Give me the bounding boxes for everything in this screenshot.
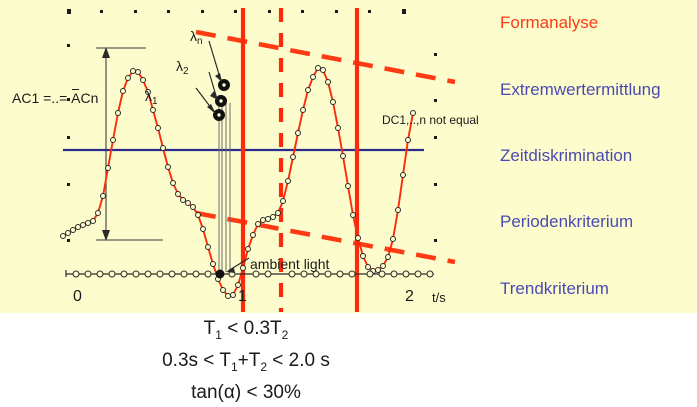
legend-item-trendkriterium[interactable]: Trendkriterium	[500, 279, 609, 299]
lambda-sample-points[interactable]	[214, 80, 229, 120]
x-axis-unit-label: t/s	[432, 290, 446, 305]
legend-item-extremwertermittlung[interactable]: Extremwertermittlung	[500, 80, 661, 100]
ambient-light-leader	[228, 258, 249, 271]
ambient-light-point[interactable]	[216, 270, 225, 279]
left-tick-marks	[67, 44, 70, 242]
plot-panel: AC1 =..= ACn DC1,..,n not equal ambient …	[0, 0, 492, 313]
lambda-n-label: λn	[190, 28, 203, 47]
legend-item-zeitdiskrimination[interactable]: Zeitdiskrimination	[500, 146, 632, 166]
x-tick-1: 1	[238, 288, 247, 306]
legend-item-periodenkriterium[interactable]: Periodenkriterium	[500, 212, 633, 232]
ppg-waveform	[63, 68, 413, 296]
formula-line-2: 0.3s < T1+T2 < 2.0 s	[0, 348, 492, 380]
time-discrimination-lines	[219, 95, 230, 272]
formula-line-1: T1 < 0.3T2	[0, 316, 492, 348]
lambda-1-label: λ1	[145, 88, 158, 107]
legend-item-formanalyse[interactable]: Formanalyse	[500, 13, 598, 33]
lambda-arrowheads	[207, 73, 222, 114]
dc-not-equal-label: DC1,..,n not equal	[382, 113, 479, 127]
lambda-2-label: λ2	[176, 58, 189, 77]
criteria-formulas: T1 < 0.3T2 0.3s < T1+T2 < 2.0 s tan(α) <…	[0, 316, 492, 405]
waveform-sample-markers	[61, 66, 416, 299]
criteria-legend: Formanalyse Extremwertermittlung Zeitdis…	[492, 0, 697, 313]
x-tick-2: 2	[405, 288, 414, 306]
lower-trendline	[196, 213, 455, 262]
x-tick-0: 0	[73, 288, 82, 306]
formula-line-3: tan(α) < 30%	[0, 380, 492, 405]
ambient-light-label: ambient light	[250, 256, 329, 272]
ac-equality-label: AC1 =..= ACn	[12, 90, 98, 106]
slide-root: AC1 =..= ACn DC1,..,n not equal ambient …	[0, 0, 697, 407]
right-tick-marks	[434, 53, 437, 242]
signal-plot-svg	[0, 0, 492, 313]
